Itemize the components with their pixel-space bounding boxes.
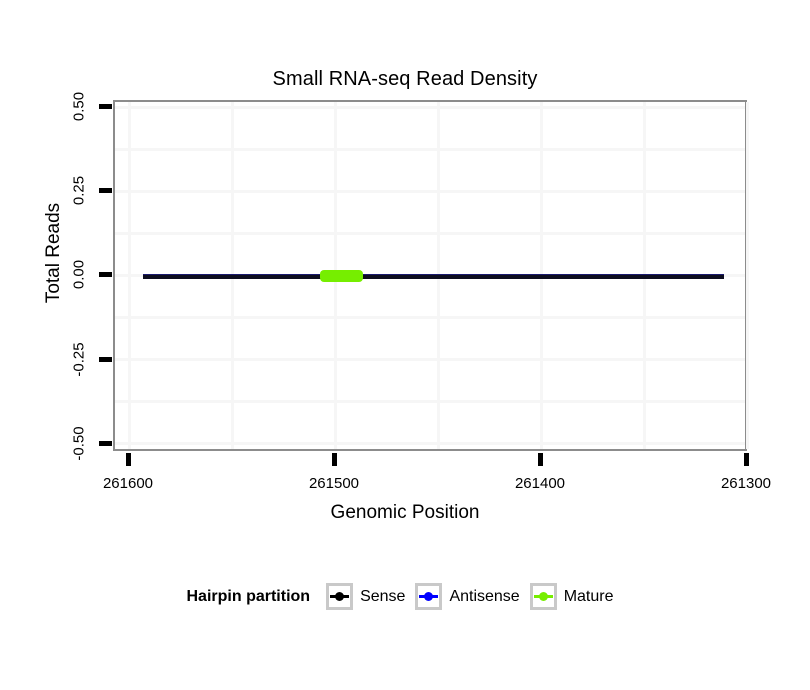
y-tick-mark-050 [99, 104, 112, 109]
legend-title: Hairpin partition [187, 588, 311, 606]
x-tick-mark-261500 [332, 453, 337, 466]
legend-entry-mature[interactable]: Mature [530, 583, 614, 610]
y-tick-label-000: 0.00 [71, 245, 88, 305]
legend-key-mature-icon [530, 583, 557, 610]
y-tick-label-025: 0.25 [71, 161, 88, 221]
y-tick-mark-000 [99, 272, 112, 277]
y-tick-mark-m050 [99, 441, 112, 446]
legend-entry-sense[interactable]: Sense [326, 583, 405, 610]
gridline-y-minor-0375 [115, 148, 745, 151]
legend-key-sense-icon [326, 583, 353, 610]
y-tick-mark-m025 [99, 357, 112, 362]
gridline-y-major-m025 [115, 358, 745, 361]
y-tick-label-m025: -0.25 [71, 330, 88, 390]
legend-label-mature: Mature [564, 588, 614, 606]
x-tick-label-261400: 261400 [495, 475, 585, 492]
legend-label-antisense: Antisense [449, 588, 519, 606]
y-tick-label-m050: -0.50 [71, 414, 88, 474]
x-tick-label-261600: 261600 [83, 475, 173, 492]
legend: Hairpin partition Sense Antisense Mature [0, 583, 810, 610]
gridline-x-261300 [746, 102, 749, 449]
x-axis-title: Genomic Position [0, 502, 810, 524]
x-tick-mark-261300 [744, 453, 749, 466]
gridline-y-minor-m0375 [115, 400, 745, 403]
gridline-y-major-050 [115, 106, 745, 109]
y-axis-title: Total Reads [43, 153, 65, 353]
x-tick-label-261300: 261300 [701, 475, 791, 492]
gridline-x-261600 [128, 102, 131, 449]
gridline-y-minor-m0125 [115, 316, 745, 319]
x-tick-mark-261600 [126, 453, 131, 466]
series-segment-mature [320, 270, 363, 282]
legend-entry-antisense[interactable]: Antisense [415, 583, 519, 610]
gridline-y-major-m050 [115, 442, 745, 445]
legend-label-sense: Sense [360, 588, 405, 606]
x-tick-mark-261400 [538, 453, 543, 466]
gridline-y-minor-0125 [115, 232, 745, 235]
y-tick-label-050: 0.50 [71, 77, 88, 137]
gridline-y-major-025 [115, 190, 745, 193]
plot-panel [113, 100, 747, 451]
page-title: Small RNA-seq Read Density [0, 68, 810, 91]
x-tick-label-261500: 261500 [289, 475, 379, 492]
legend-key-antisense-icon [415, 583, 442, 610]
y-tick-mark-025 [99, 188, 112, 193]
series-line-sense [143, 275, 724, 279]
